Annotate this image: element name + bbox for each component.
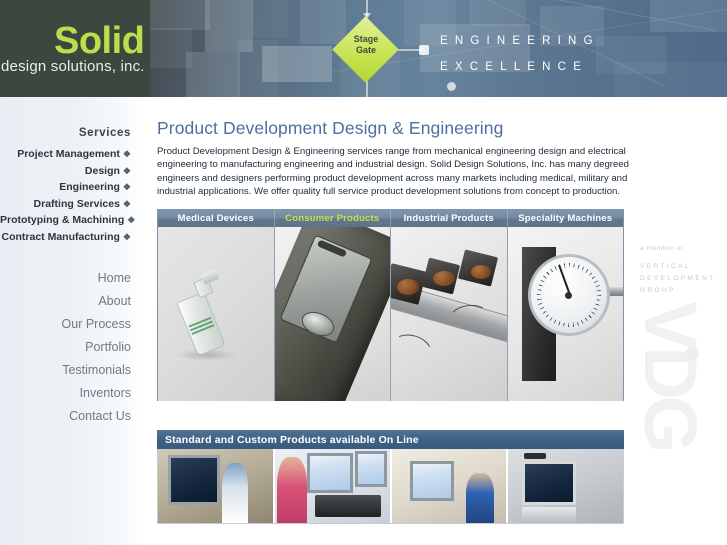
header-mosaic-tile [150,0,210,30]
tab-speciality-machines[interactable]: Speciality Machines [508,210,624,227]
vdg-watermark-dot [686,347,699,360]
diamond-bullet-icon: ❖ [123,232,131,242]
header-tagline: ENGINEERING EXCELLENCE [440,28,720,80]
sidebar-item-label: Contract Manufacturing [2,231,120,243]
medical-cart-monitor-photo[interactable] [508,449,623,523]
tab-industrial-products[interactable]: Industrial Products [391,210,508,227]
logo-panel: Solid design solutions, inc. [0,0,150,97]
cart-arm [524,453,546,459]
person-silhouette [466,473,494,523]
sidebar-item-about[interactable]: About [0,290,131,313]
gauge-dial-face [528,254,610,336]
sidebar-item-label: Engineering [59,181,120,193]
flow-node-dot [447,82,456,91]
stage-gate-line-1: Stage [333,34,399,45]
person-silhouette [277,457,307,523]
logo-tagline: design solutions, inc. [1,58,145,75]
gauge-hub [565,292,572,299]
sidebar-nav: Home About Our Process Portfolio Testimo… [0,267,131,428]
clinician-at-display-photo[interactable] [158,449,275,523]
main-content: Product Development Design & Engineering… [145,97,727,545]
sidebar-item-design[interactable]: Design❖ [0,163,131,180]
sidebar-item-label: Drafting Services [34,198,120,210]
monitor-primary [307,453,353,493]
operator-dual-monitors-photo[interactable] [275,449,392,523]
sidebar-item-label: Design [85,165,120,177]
sidebar-item-label: Project Management [17,148,120,160]
sidebar-item-inventors[interactable]: Inventors [0,382,131,405]
tab-consumer-products[interactable]: Consumer Products [275,210,392,227]
wall-monitor [410,461,454,501]
vdg-member-of-label: a member of [640,245,683,252]
copper-coil [397,279,419,295]
bottom-photo-strip [157,449,624,524]
cart-screen [522,461,576,505]
person-silhouette [222,463,248,523]
sidebar-item-contact-us[interactable]: Contact Us [0,405,131,428]
online-products-banner[interactable]: Standard and Custom Products available O… [157,430,624,449]
diamond-bullet-icon: ❖ [127,215,135,225]
logo-wordmark: Solid [54,22,144,60]
gallery-tab-bar: Medical Devices Consumer Products Indust… [158,210,623,227]
sidebar-item-our-process[interactable]: Our Process [0,313,131,336]
sidebar-item-home[interactable]: Home [0,267,131,290]
sidebar-item-project-management[interactable]: Project Management❖ [0,146,131,163]
sidebar-item-prototyping-machining[interactable]: Prototyping & Machining❖ [0,212,131,229]
header-mosaic-tile [252,0,288,38]
sidebar-item-drafting-services[interactable]: Drafting Services❖ [0,196,131,213]
wire-loop [391,329,437,375]
copper-coil [471,265,491,279]
sidebar-item-testimonials[interactable]: Testimonials [0,359,131,382]
display-screen [168,455,220,505]
monitor-secondary [355,451,387,487]
header-mosaic-tile [186,52,240,97]
flow-node-square [419,45,429,55]
vdg-line-development: DEVELOPMENT [640,275,716,282]
stage-gate-label: Stage Gate [333,34,399,56]
diamond-bullet-icon: ❖ [123,199,131,209]
header-mosaic-tile [262,46,332,82]
tagline-engineering: ENGINEERING [440,28,720,54]
stage-gate-node: Stage Gate [333,17,399,83]
services-heading: Services [0,127,131,139]
left-sidebar: Services Project Management❖ Design❖ Eng… [0,97,145,545]
sidebar-item-contract-manufacturing[interactable]: Contract Manufacturing❖ [0,229,131,246]
cart-body [522,507,576,523]
diamond-bullet-icon: ❖ [123,182,131,192]
sidebar-item-engineering[interactable]: Engineering❖ [0,179,131,196]
handheld-device-photo[interactable] [275,227,392,401]
gauge-stem [608,287,624,296]
product-gallery: Medical Devices Consumer Products Indust… [157,209,624,401]
sidebar-item-portfolio[interactable]: Portfolio [0,336,131,359]
intro-paragraph: Product Development Design & Engineering… [157,145,663,199]
dial-indicator-gauge-photo[interactable] [508,227,624,401]
vdg-membership-block: VDG a member of VERTICAL DEVELOPMENT GRO… [632,209,727,524]
industrial-assembly-photo[interactable] [391,227,508,401]
diamond-bullet-icon: ❖ [123,166,131,176]
online-products-banner-label: Standard and Custom Products available O… [157,434,419,446]
wall-mounted-monitor-photo[interactable] [392,449,509,523]
sidebar-item-label: Prototyping & Machining [0,214,124,226]
site-header: Solid design solutions, inc. Stage Gate … [0,0,727,97]
stage-gate-line-2: Gate [333,45,399,56]
copper-coil [433,271,455,286]
diamond-bullet-icon: ❖ [123,149,131,159]
glass-vial-photo[interactable] [158,227,275,401]
vdg-line-vertical: VERTICAL [640,263,691,270]
gallery-panels [158,227,623,401]
vdg-watermark: VDG [638,301,702,449]
vdg-line-group: GROUP [640,287,676,294]
laptop-base [315,495,381,517]
page-title: Product Development Design & Engineering [157,118,503,139]
vial-cap [201,269,220,284]
tab-medical-devices[interactable]: Medical Devices [158,210,275,227]
tagline-excellence: EXCELLENCE [440,54,720,80]
